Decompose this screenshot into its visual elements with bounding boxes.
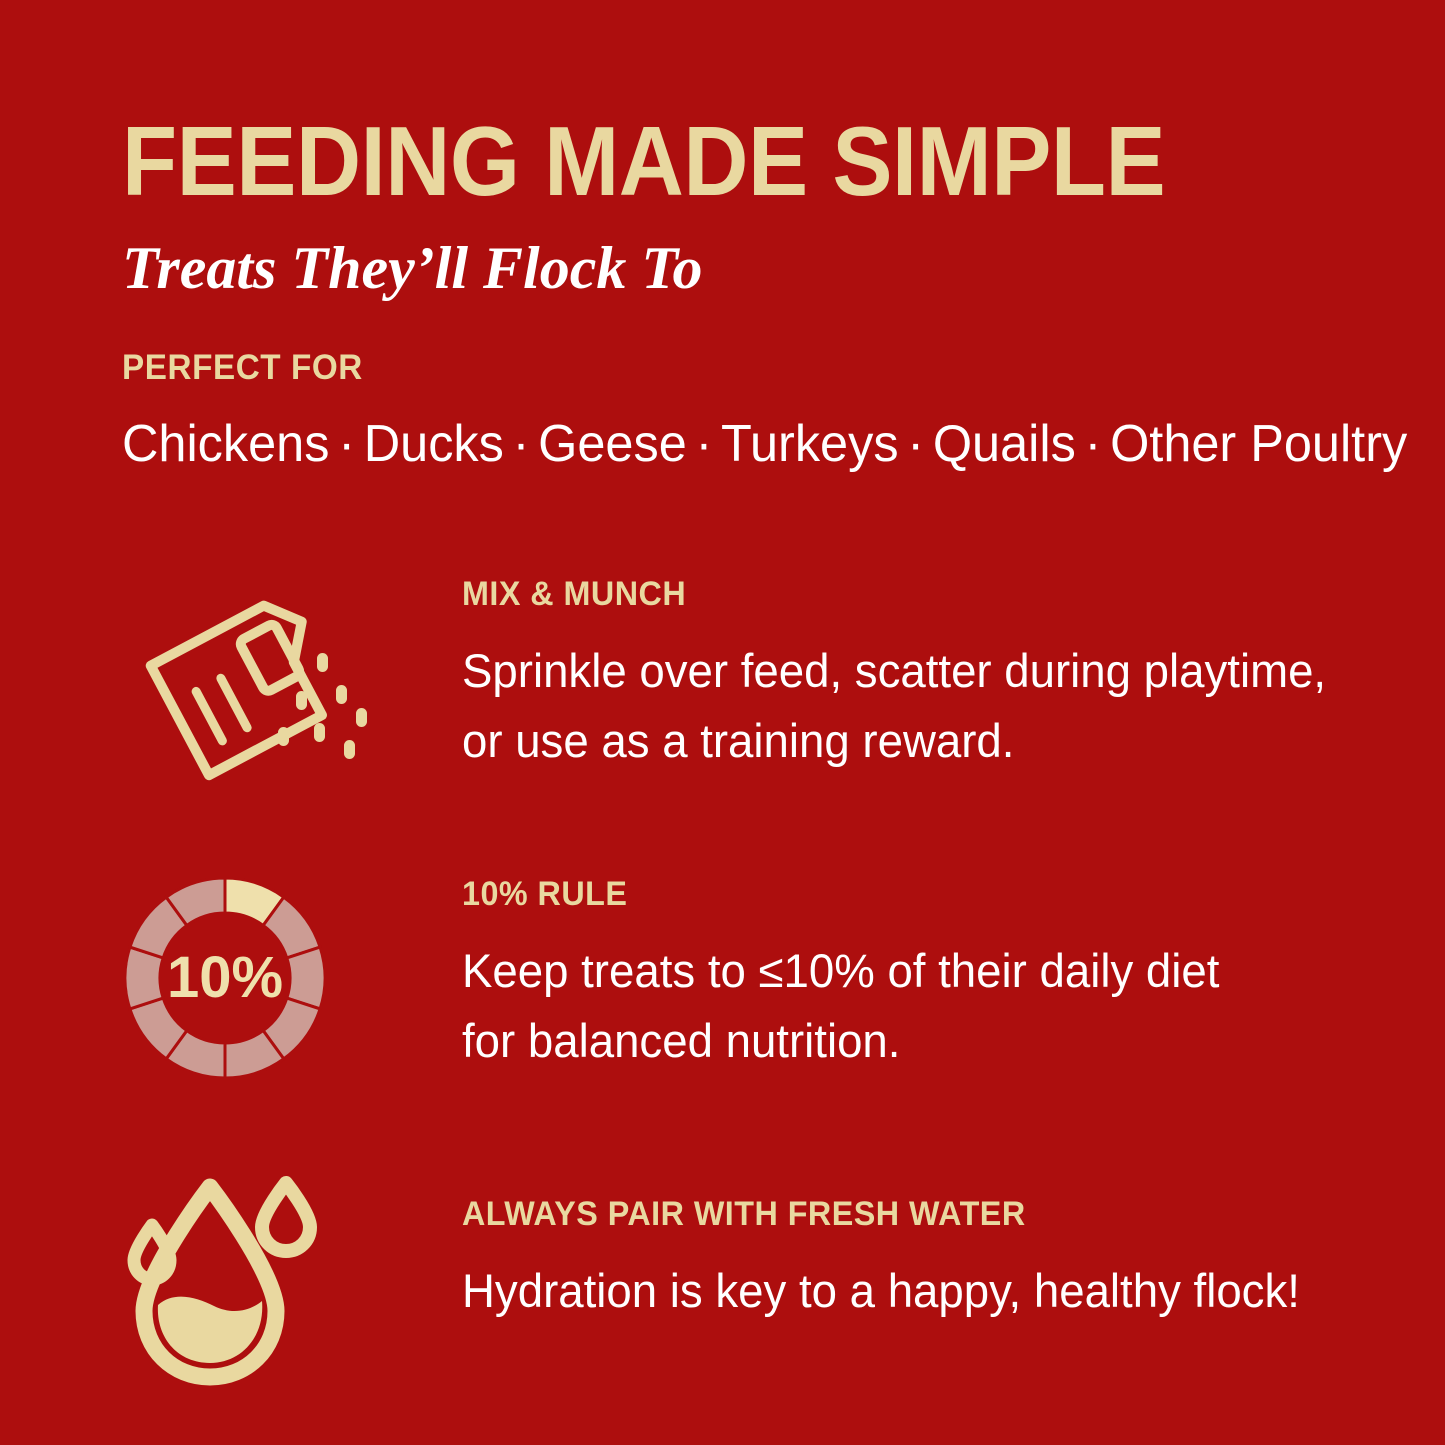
feature-heading: 10% RULE xyxy=(462,875,1317,914)
water-droplet-icon xyxy=(118,1165,378,1395)
poultry-list: Chickens·Ducks·Geese·Turkeys·Quails·Othe… xyxy=(122,414,1335,474)
feature-row-mix-and-munch: MIX & MUNCH Sprinkle over feed, scatter … xyxy=(0,575,1445,805)
feeding-guide-infographic: FEEDING MADE SIMPLE Treats They’ll Flock… xyxy=(0,0,1445,1445)
feature-body: Sprinkle over feed, scatter during playt… xyxy=(462,636,1335,775)
feature-body: Keep treats to ≤10% of their daily diet … xyxy=(462,936,1335,1075)
feature-body: Hydration is key to a happy, healthy flo… xyxy=(462,1256,1335,1326)
page-title: FEEDING MADE SIMPLE xyxy=(122,112,1244,210)
feature-heading: MIX & MUNCH xyxy=(462,575,1317,614)
feature-body-line: Sprinkle over feed, scatter during playt… xyxy=(462,636,1335,706)
poultry-item: Chickens xyxy=(122,415,329,473)
poultry-item: Other Poultry xyxy=(1110,415,1407,473)
feature-row-fresh-water: ALWAYS PAIR WITH FRESH WATER Hydration i… xyxy=(0,1165,1445,1395)
poultry-item: Quails xyxy=(933,415,1076,473)
list-separator: · xyxy=(899,415,933,473)
poultry-item: Geese xyxy=(538,415,687,473)
list-separator: · xyxy=(329,415,363,473)
feature-body-line: Hydration is key to a happy, healthy flo… xyxy=(462,1256,1335,1326)
poultry-item: Ducks xyxy=(364,415,504,473)
gauge-value-label: 10% xyxy=(167,945,283,1010)
feature-text-mix-and-munch: MIX & MUNCH Sprinkle over feed, scatter … xyxy=(462,575,1362,775)
feature-text-fresh-water: ALWAYS PAIR WITH FRESH WATER Hydration i… xyxy=(462,1165,1362,1326)
feature-heading: ALWAYS PAIR WITH FRESH WATER xyxy=(462,1195,1317,1234)
poultry-item: Turkeys xyxy=(721,415,899,473)
feature-body-line: Keep treats to ≤10% of their daily diet xyxy=(462,936,1335,1006)
feature-row-ten-percent-rule: 10% 10% RULE Keep treats to ≤10% of thei… xyxy=(0,875,1445,1105)
feature-text-ten-percent-rule: 10% RULE Keep treats to ≤10% of their da… xyxy=(462,875,1362,1075)
perfect-for-section: PERFECT FOR Chickens·Ducks·Geese·Turkeys… xyxy=(122,348,1372,474)
perfect-for-label: PERFECT FOR xyxy=(122,348,1310,388)
feed-bag-sprinkle-icon xyxy=(118,575,378,805)
feature-body-line: for balanced nutrition. xyxy=(462,1006,1335,1076)
ten-percent-gauge-icon: 10% xyxy=(118,875,378,1105)
feature-body-line: or use as a training reward. xyxy=(462,706,1335,776)
list-separator: · xyxy=(687,415,721,473)
page-subtitle: Treats They’ll Flock To xyxy=(122,238,1342,298)
header: FEEDING MADE SIMPLE Treats They’ll Flock… xyxy=(122,112,1342,298)
list-separator: · xyxy=(504,415,538,473)
list-separator: · xyxy=(1076,415,1110,473)
